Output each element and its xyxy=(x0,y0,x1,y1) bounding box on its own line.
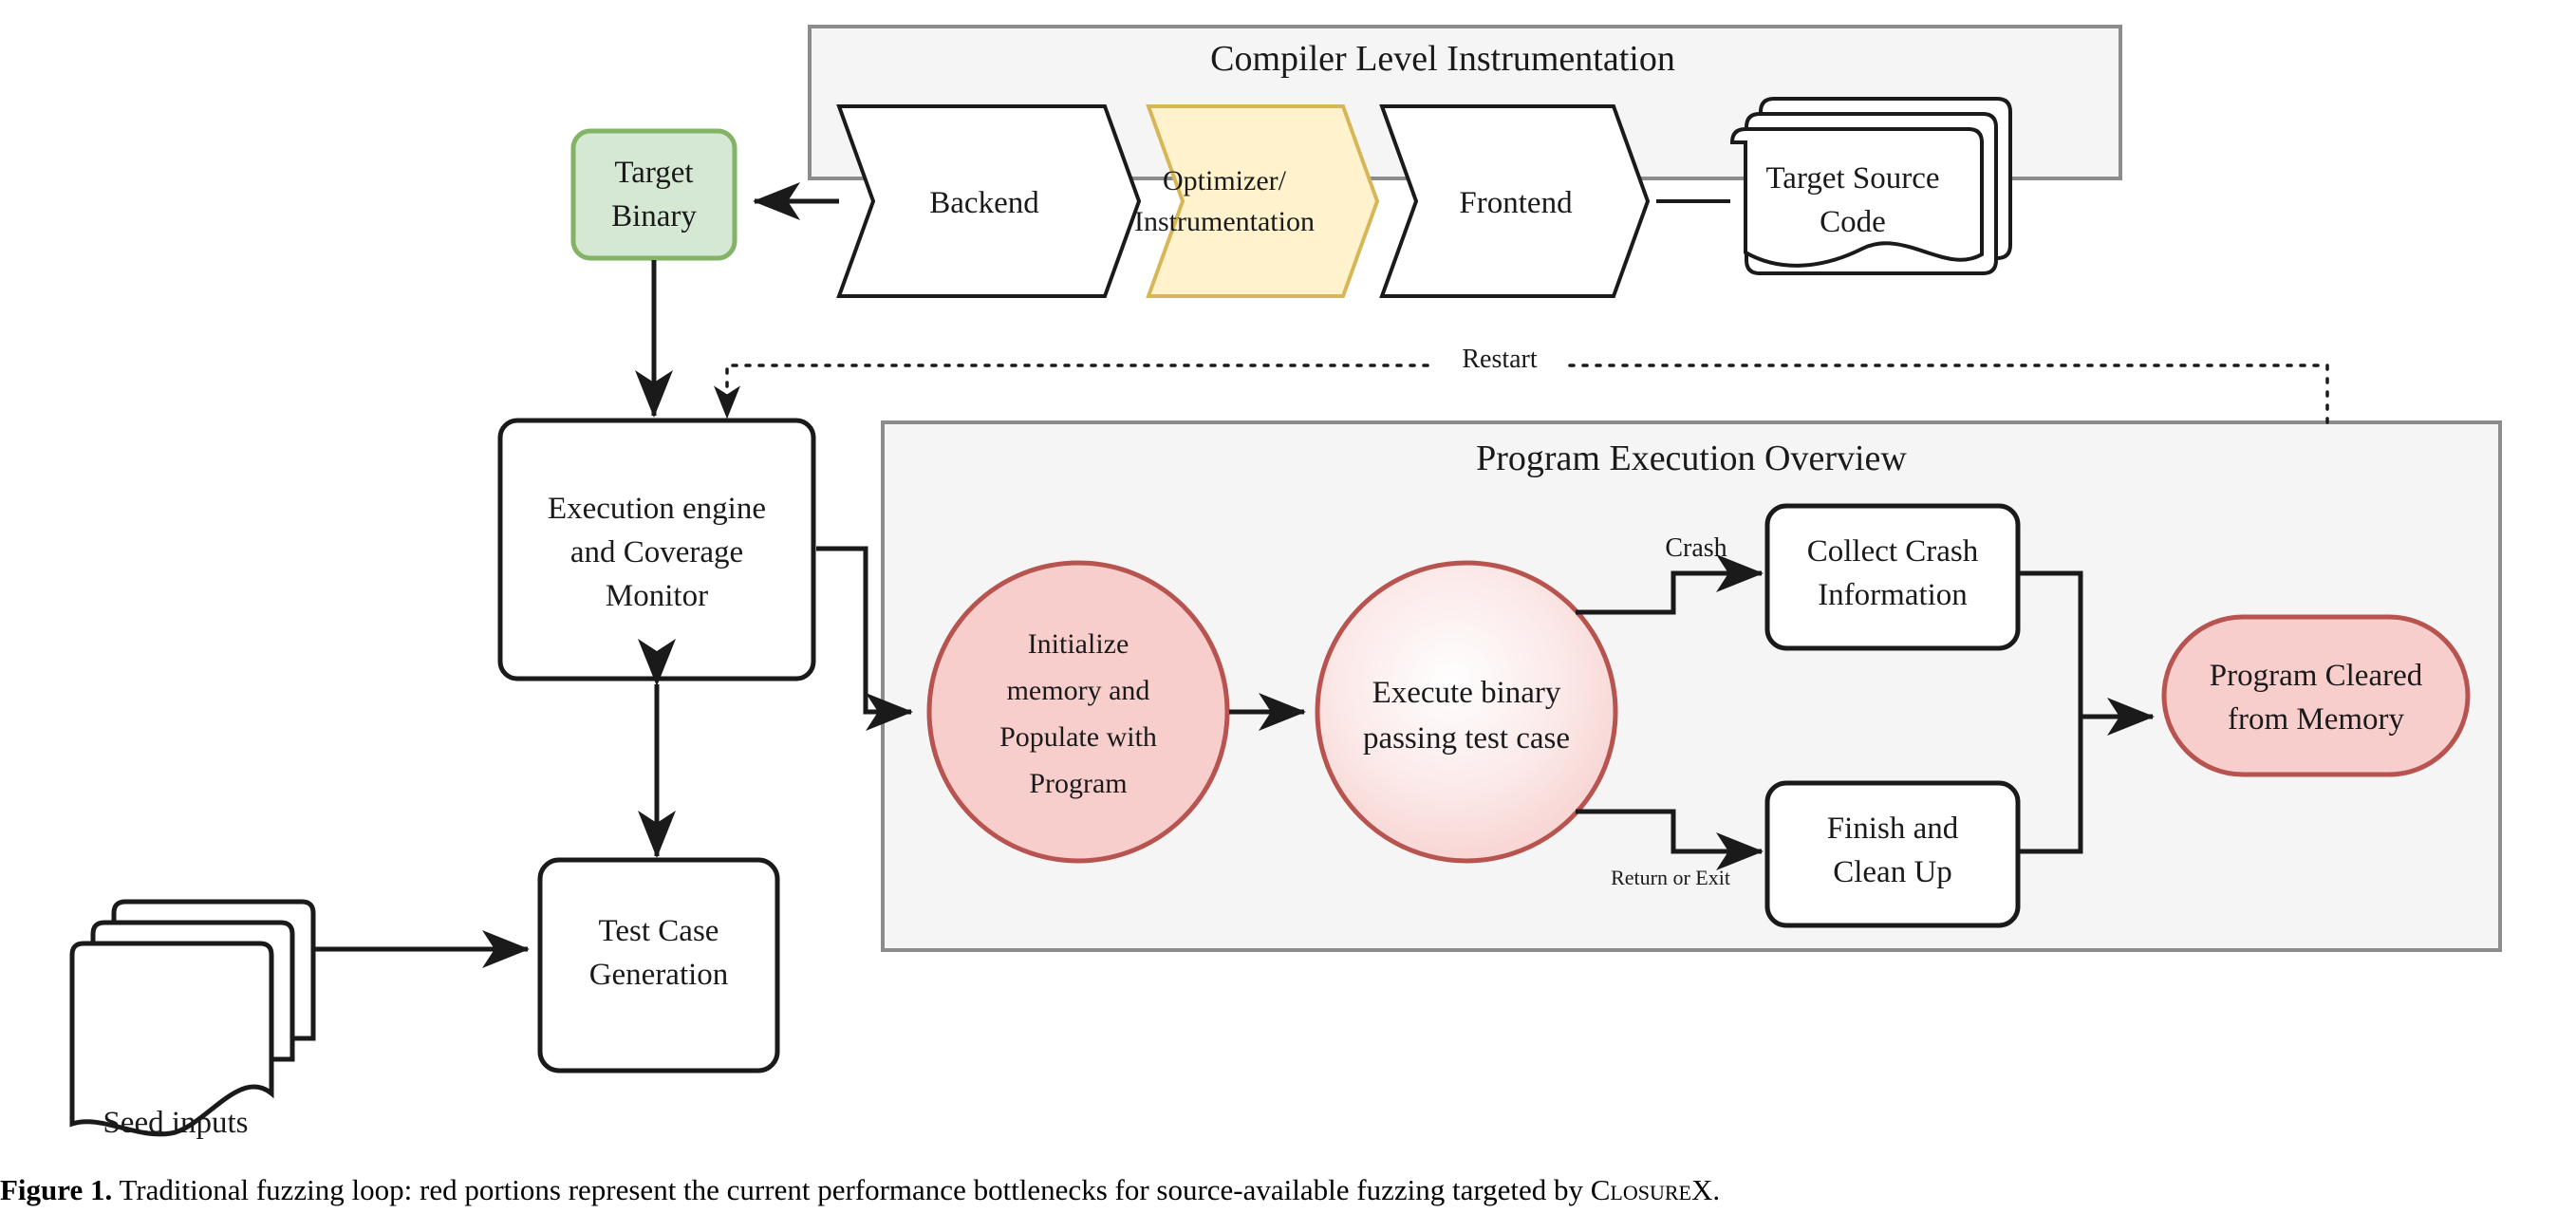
edge-restart: Restart xyxy=(727,342,2327,422)
node-optimizer-line2: Instrumentation xyxy=(1134,206,1315,237)
node-finish-cleanup-line2: Clean Up xyxy=(1833,855,1952,889)
node-execute-line1: Execute binary xyxy=(1372,676,1561,710)
compiler-panel-title: Compiler Level Instrumentation xyxy=(1210,39,1675,79)
node-initialize-line2: memory and xyxy=(1007,675,1150,706)
node-testcase-line2: Generation xyxy=(589,958,729,992)
node-engine-line2: and Coverage xyxy=(570,535,743,569)
node-test-case-generation[interactable]: Test Case Generation xyxy=(540,860,777,1071)
node-finish-clean-up[interactable]: Finish and Clean Up xyxy=(1767,783,2018,925)
figure-caption-emphasis: ClosureX xyxy=(1591,1173,1713,1206)
node-execution-engine[interactable]: Execution engine and Coverage Monitor xyxy=(500,420,813,679)
node-target-source-line1: Target Source xyxy=(1765,161,1939,196)
node-program-cleared-line2: from Memory xyxy=(2228,702,2405,737)
node-execute-binary[interactable]: Execute binary passing test case xyxy=(1317,563,1615,861)
node-optimizer-line1: Optimizer/ xyxy=(1163,165,1287,196)
node-target-source-line2: Code xyxy=(1820,205,1886,239)
edge-crash-label: Crash xyxy=(1665,533,1727,563)
fuzzing-loop-diagram: Compiler Level Instrumentation Backend O… xyxy=(0,0,2576,1232)
node-program-cleared-from-memory[interactable]: Program Cleared from Memory xyxy=(2164,617,2468,775)
node-initialize-memory[interactable]: Initialize memory and Populate with Prog… xyxy=(929,563,1227,861)
node-backend[interactable]: Backend xyxy=(839,106,1139,296)
node-engine-line1: Execution engine xyxy=(548,492,766,526)
node-optimizer-instrumentation[interactable]: Optimizer/ Instrumentation xyxy=(1134,106,1377,296)
figure-label: Figure 1. xyxy=(0,1173,112,1206)
figure-container: Compiler Level Instrumentation Backend O… xyxy=(0,0,2576,1232)
node-engine-line3: Monitor xyxy=(606,579,708,613)
node-target-binary[interactable]: Target Binary xyxy=(573,131,735,258)
figure-caption: Figure 1. Traditional fuzzing loop: red … xyxy=(0,1169,2576,1226)
node-frontend-label: Frontend xyxy=(1459,186,1573,220)
node-initialize-line3: Populate with xyxy=(999,721,1157,753)
edge-return-or-exit-label: Return or Exit xyxy=(1611,866,1730,889)
node-frontend[interactable]: Frontend xyxy=(1382,106,1648,296)
edge-restart-label: Restart xyxy=(1462,345,1538,374)
figure-caption-part2: . xyxy=(1712,1173,1720,1206)
node-target-binary-line2: Binary xyxy=(611,199,697,233)
node-collect-crash-information[interactable]: Collect Crash Information xyxy=(1767,506,2018,648)
node-initialize-line4: Program xyxy=(1029,768,1127,799)
node-collect-crash-line1: Collect Crash xyxy=(1807,534,1979,569)
node-seed-inputs-label: Seed inputs xyxy=(103,1106,248,1140)
node-testcase-line1: Test Case xyxy=(599,914,719,948)
node-seed-inputs[interactable]: Seed inputs xyxy=(72,902,313,1140)
node-finish-cleanup-line1: Finish and xyxy=(1827,812,1959,846)
node-initialize-line1: Initialize xyxy=(1028,628,1129,660)
node-target-source-code[interactable]: Target Source Code xyxy=(1732,99,2010,273)
execution-panel-title: Program Execution Overview xyxy=(1476,439,1907,478)
figure-caption-part1: Traditional fuzzing loop: red portions r… xyxy=(112,1173,1590,1206)
node-program-cleared-line1: Program Cleared xyxy=(2210,659,2423,693)
node-backend-label: Backend xyxy=(929,186,1039,220)
node-execute-line2: passing test case xyxy=(1363,721,1570,756)
node-target-binary-line1: Target xyxy=(614,156,693,190)
node-collect-crash-line2: Information xyxy=(1818,578,1968,612)
